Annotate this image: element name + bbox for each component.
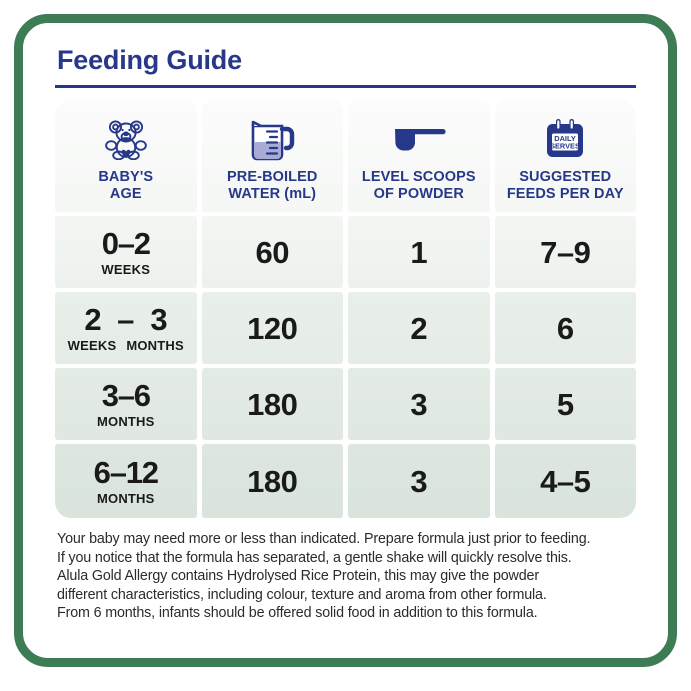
cell-scoops: 3: [348, 368, 490, 440]
cell-feeds: 6: [495, 292, 637, 364]
cell-scoops: 2: [348, 292, 490, 364]
cell-scoops: 3: [348, 444, 490, 518]
title-divider: [55, 85, 636, 88]
table-row: 0–2 WEEKS 60 1 7–9: [55, 216, 636, 288]
footnote-line: different characteristics, including col…: [57, 586, 636, 605]
age-unit: WEEKS: [101, 263, 150, 276]
footnote: Your baby may need more or less than ind…: [55, 530, 636, 623]
water-amount: 60: [256, 237, 289, 268]
cell-feeds: 4–5: [495, 444, 637, 518]
feeding-guide-table: BABY'S AGE: [55, 100, 636, 518]
calendar-icon: DAILY SERVES: [543, 116, 587, 162]
table-header-row: BABY'S AGE: [55, 100, 636, 212]
cell-water: 180: [202, 368, 344, 440]
calendar-icon-line2: SERVES: [550, 142, 580, 151]
scoops-amount: 3: [410, 466, 427, 497]
age-to: 3: [150, 304, 167, 335]
water-amount: 180: [247, 389, 297, 420]
feeds-amount: 4–5: [540, 466, 590, 497]
water-amount: 180: [247, 466, 297, 497]
age-from-unit: WEEKS: [68, 339, 117, 352]
scoops-amount: 1: [410, 237, 427, 268]
cell-age: 0–2 WEEKS: [55, 216, 197, 288]
scoop-icon: [391, 116, 447, 162]
cell-feeds: 7–9: [495, 216, 637, 288]
age-to-unit: MONTHS: [126, 339, 184, 352]
age-split-numbers: 2 – 3: [55, 304, 197, 335]
page-title: Feeding Guide: [55, 47, 636, 74]
scoops-amount: 3: [410, 389, 427, 420]
footnote-line: If you notice that the formula has separ…: [57, 549, 636, 568]
footnote-line: Your baby may need more or less than ind…: [57, 530, 636, 549]
age-range: 6–12: [94, 457, 158, 488]
column-header-label: SUGGESTED FEEDS PER DAY: [507, 169, 624, 201]
cell-water: 180: [202, 444, 344, 518]
column-header-babys-age: BABY'S AGE: [55, 100, 197, 212]
cell-scoops: 1: [348, 216, 490, 288]
column-header-label: PRE-BOILED WATER (mL): [227, 169, 317, 201]
column-header-label: LEVEL SCOOPS OF POWDER: [362, 169, 476, 201]
age-split-group: 2 – 3 WEEKS MONTHS: [55, 304, 197, 352]
feeds-amount: 6: [557, 313, 574, 344]
cell-age: 2 – 3 WEEKS MONTHS: [55, 292, 197, 364]
water-amount: 120: [247, 313, 297, 344]
age-unit: MONTHS: [97, 415, 155, 428]
column-header-level-scoops: LEVEL SCOOPS OF POWDER: [348, 100, 490, 212]
age-range: 3–6: [102, 380, 150, 411]
panel-inner: Feeding Guide: [23, 23, 668, 658]
column-header-label: BABY'S AGE: [98, 169, 153, 201]
cell-age: 3–6 MONTHS: [55, 368, 197, 440]
age-range: 0–2: [102, 228, 150, 259]
table-row: 6–12 MONTHS 180 3 4–5: [55, 444, 636, 518]
column-header-suggested-feeds: DAILY SERVES SUGGESTED FEEDS PER DAY: [495, 100, 637, 212]
age-from: 2: [84, 304, 101, 335]
table-row: 2 – 3 WEEKS MONTHS 120 2: [55, 292, 636, 364]
column-header-pre-boiled-water: PRE-BOILED WATER (mL): [202, 100, 344, 212]
age-dash: –: [117, 304, 134, 335]
cell-water: 120: [202, 292, 344, 364]
footnote-line: From 6 months, infants should be offered…: [57, 604, 636, 623]
table-row: 3–6 MONTHS 180 3 5: [55, 368, 636, 440]
feeding-guide-panel: Feeding Guide: [14, 14, 677, 667]
cell-water: 60: [202, 216, 344, 288]
cell-age: 6–12 MONTHS: [55, 444, 197, 518]
feeds-amount: 5: [557, 389, 574, 420]
scoops-amount: 2: [410, 313, 427, 344]
teddy-bear-icon: [104, 116, 148, 162]
feeds-amount: 7–9: [540, 237, 590, 268]
age-unit: MONTHS: [97, 492, 155, 505]
measuring-jug-icon: [248, 116, 296, 162]
age-split-units: WEEKS MONTHS: [55, 339, 197, 352]
footnote-line: Alula Gold Allergy contains Hydrolysed R…: [57, 567, 636, 586]
cell-feeds: 5: [495, 368, 637, 440]
